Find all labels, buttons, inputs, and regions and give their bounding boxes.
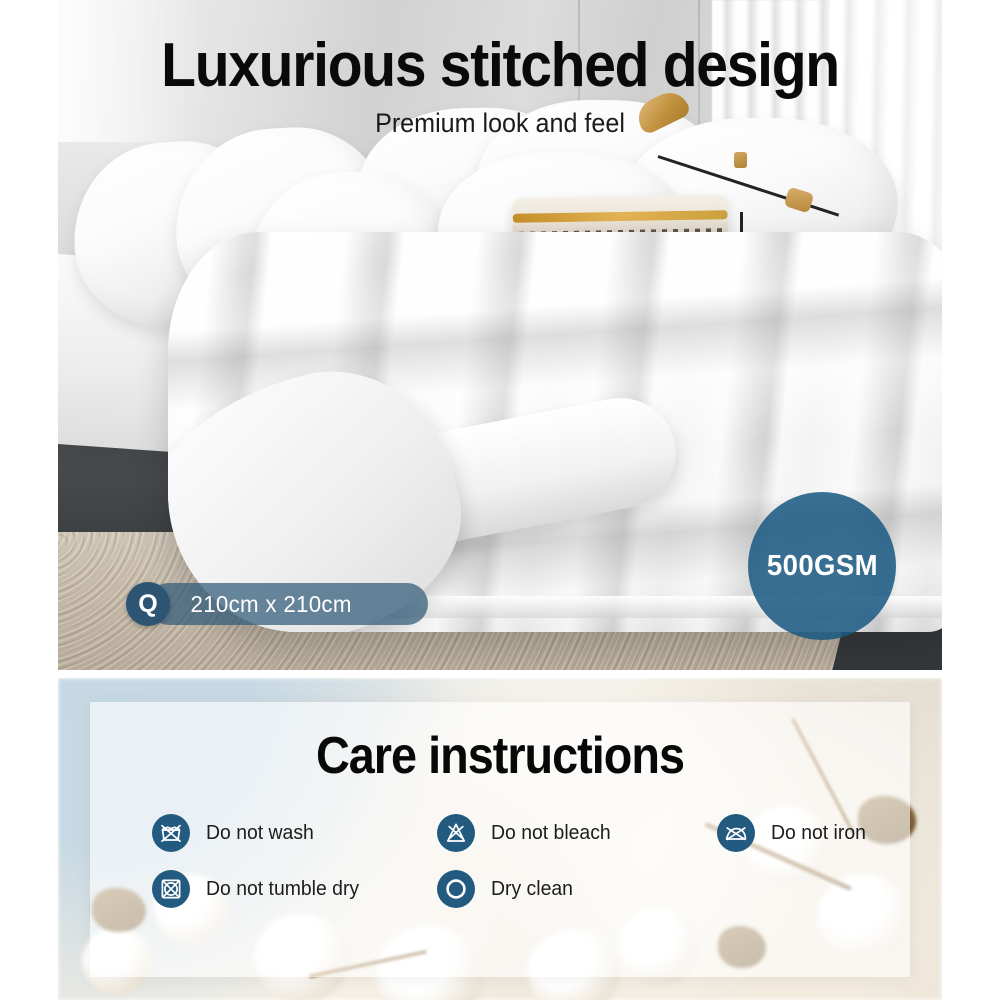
care-item-label: Do not bleach <box>491 822 611 845</box>
gsm-badge-label: 500GSM <box>766 550 877 583</box>
do-not-tumble-dry-icon <box>152 870 190 908</box>
care-item-do-not-tumble-dry: Do not tumble dry <box>152 870 437 908</box>
care-row: Do not wash Do not bleach <box>152 814 912 852</box>
care-instructions-title: Care instructions <box>131 726 869 786</box>
care-instructions-grid: Do not wash Do not bleach <box>152 814 912 926</box>
care-item-do-not-bleach: Do not bleach <box>437 814 717 852</box>
care-row: Do not tumble dry Dry clean <box>152 870 912 908</box>
care-item-label: Do not wash <box>206 822 314 845</box>
care-item-do-not-wash: Do not wash <box>152 814 437 852</box>
page-subtitle: Premium look and feel <box>89 108 911 139</box>
do-not-wash-icon <box>152 814 190 852</box>
care-instructions-card: Care instructions Do not wash <box>90 702 910 977</box>
care-instructions-section: Care instructions Do not wash <box>58 678 942 1000</box>
care-item-label: Do not iron <box>771 822 866 845</box>
floor-lamp-joint <box>734 152 747 168</box>
do-not-bleach-icon <box>437 814 475 852</box>
hero-bedroom-photo: Luxurious stitched design Premium look a… <box>58 0 942 670</box>
dry-clean-icon <box>437 870 475 908</box>
size-badge: Q 210cm x 210cm <box>126 583 354 625</box>
size-dimensions-label: 210cm x 210cm <box>190 591 351 618</box>
care-item-do-not-iron: Do not iron <box>717 814 912 852</box>
do-not-iron-icon <box>717 814 755 852</box>
product-listing-image: Luxurious stitched design Premium look a… <box>0 0 1000 1000</box>
care-item-label: Dry clean <box>491 878 573 901</box>
care-item-dry-clean: Dry clean <box>437 870 717 908</box>
care-item-label: Do not tumble dry <box>206 878 359 901</box>
gsm-badge: 500GSM <box>748 492 896 640</box>
size-code-circle: Q <box>126 582 170 626</box>
page-title: Luxurious stitched design <box>93 34 906 97</box>
